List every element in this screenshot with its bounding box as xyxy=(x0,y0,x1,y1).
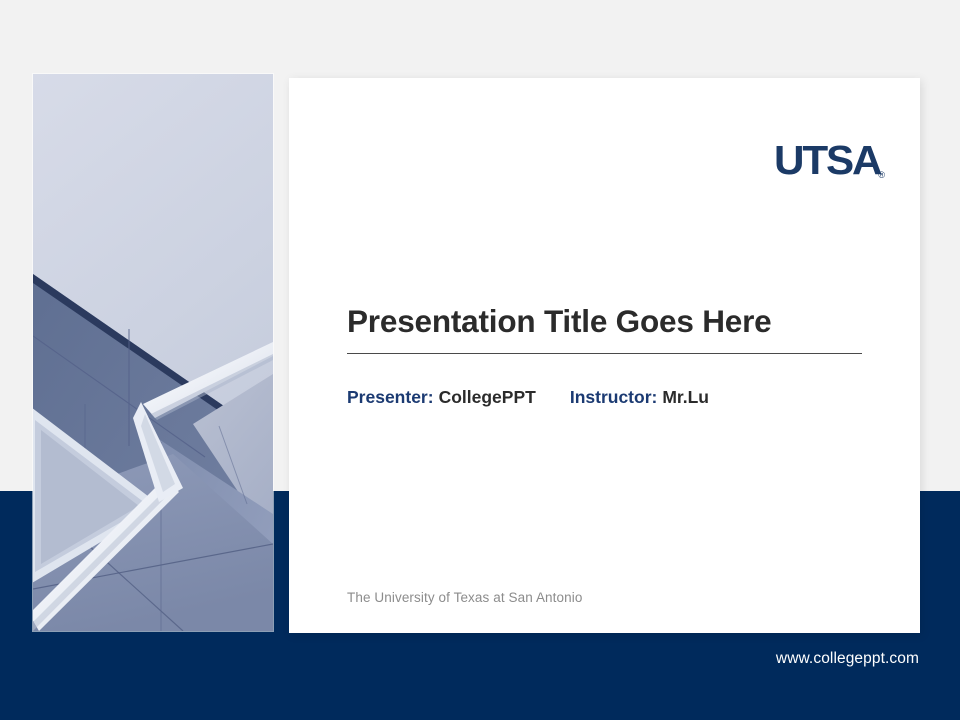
title-block: Presentation Title Goes Here xyxy=(347,303,867,354)
architecture-photo xyxy=(33,74,273,631)
slide-content-card: UTSA ® Presentation Title Goes Here Pres… xyxy=(289,78,920,633)
utsa-logo: UTSA ® xyxy=(774,140,885,181)
slide-canvas: www.collegeppt.com xyxy=(0,0,960,720)
credits-line: Presenter:CollegePPTInstructor:Mr.Lu xyxy=(347,389,709,407)
university-footer-text: The University of Texas at San Antonio xyxy=(347,590,582,605)
presenter-label: Presenter: xyxy=(347,387,434,407)
presenter-value: CollegePPT xyxy=(439,387,536,407)
instructor-label: Instructor: xyxy=(570,387,658,407)
instructor-value: Mr.Lu xyxy=(662,387,709,407)
utsa-wordmark-text: UTSA xyxy=(774,140,880,181)
title-divider-rule xyxy=(347,353,862,354)
site-url-text: www.collegeppt.com xyxy=(776,650,919,668)
slide-title: Presentation Title Goes Here xyxy=(347,303,867,339)
architecture-photo-artwork xyxy=(33,74,273,631)
